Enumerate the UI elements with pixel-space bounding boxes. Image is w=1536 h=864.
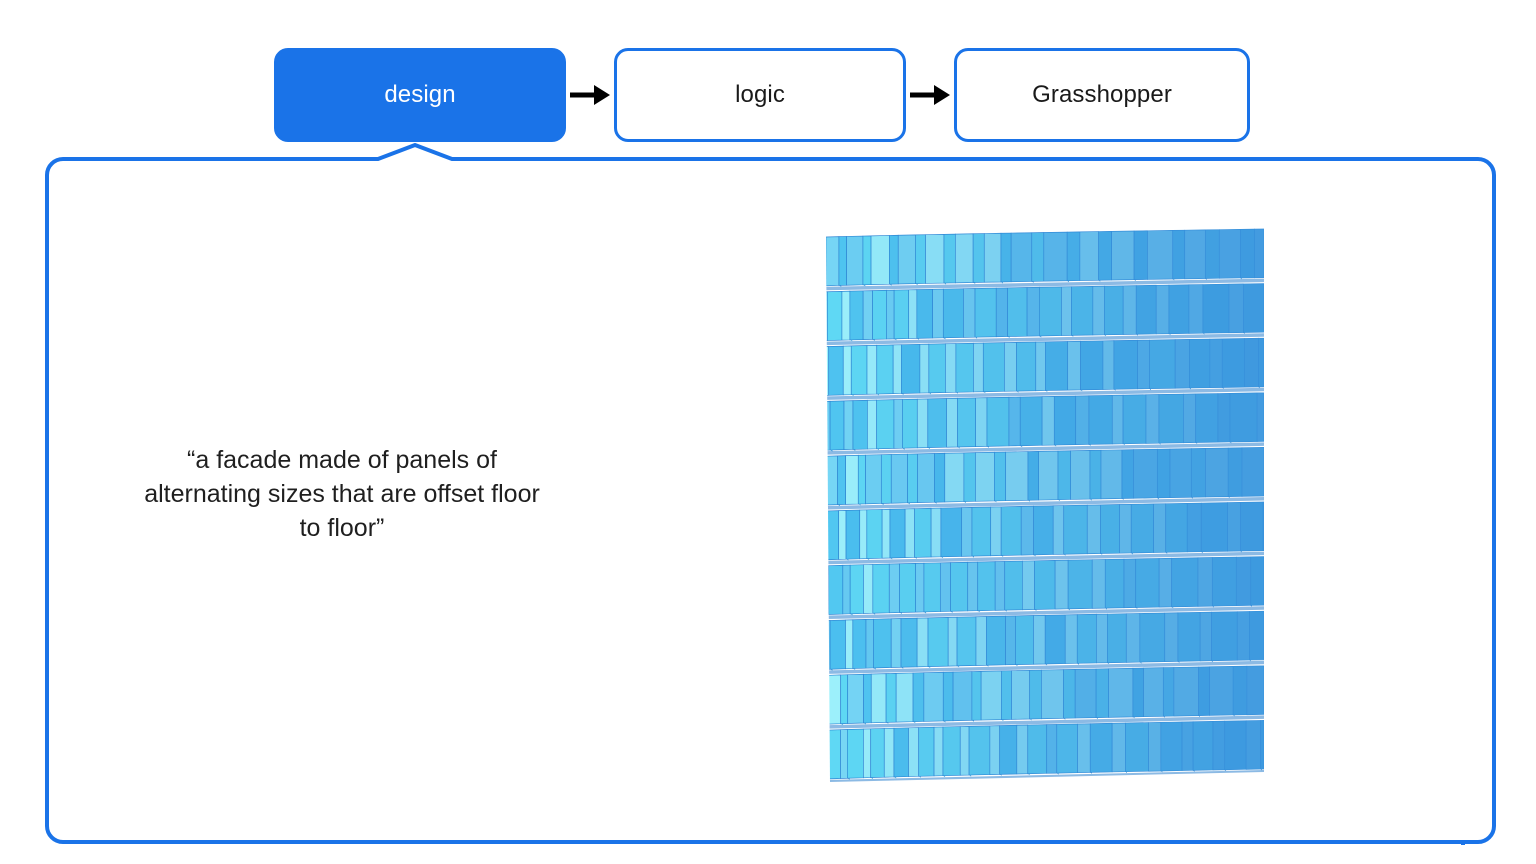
facade-panel <box>843 346 851 395</box>
facade-panel <box>1030 670 1042 719</box>
facade-panel <box>1178 612 1200 661</box>
facade-panel <box>1250 611 1264 660</box>
facade-panel <box>1175 339 1189 388</box>
facade-panel <box>826 401 830 450</box>
facade-panel <box>826 566 829 615</box>
facade-panel <box>1199 667 1210 716</box>
facade-panel <box>1114 340 1138 389</box>
facade-panel <box>1039 451 1058 500</box>
facade-panel <box>1247 666 1264 715</box>
facade-panel <box>1210 339 1222 388</box>
facade-panel <box>893 345 901 394</box>
facade-panel <box>1096 669 1109 718</box>
facade-panel <box>863 291 872 340</box>
facade-panel <box>827 730 840 779</box>
facade-panel <box>1255 229 1264 278</box>
facade-panel <box>1096 614 1107 663</box>
facade-panel <box>909 290 917 339</box>
facade-panel <box>1219 229 1240 278</box>
facade-panel <box>1044 232 1067 281</box>
facade-panel <box>1230 393 1257 442</box>
facade-floor-band <box>826 284 1264 346</box>
facade-panel <box>996 288 1007 337</box>
facade-panel <box>850 565 863 614</box>
facade-panel <box>1174 667 1199 716</box>
facade-panel <box>978 562 995 611</box>
facade-panel <box>1107 614 1126 663</box>
facade-panel <box>1165 613 1178 662</box>
facade-panel <box>1203 284 1229 333</box>
facade-panel <box>891 618 901 667</box>
facade-panel <box>838 456 846 505</box>
facade-panel <box>975 452 994 501</box>
flow-step-design[interactable]: design <box>274 48 566 142</box>
facade-panel <box>844 401 853 450</box>
facade-panel <box>1065 615 1077 664</box>
facade-floor-band <box>826 502 1264 564</box>
facade-panel <box>1033 615 1045 664</box>
facade-panel <box>908 728 918 777</box>
facade-panel <box>1205 230 1219 279</box>
facade-panel <box>1015 616 1033 665</box>
facade-panel <box>860 510 867 559</box>
facade-panel <box>853 400 867 449</box>
facade-panel <box>867 400 876 449</box>
facade-panel <box>1076 396 1089 445</box>
facade-panel <box>1136 558 1159 607</box>
facade-panel <box>947 398 958 447</box>
facade-panel <box>1064 505 1088 554</box>
facade-panel <box>1041 670 1063 719</box>
facade-panel <box>1157 449 1170 498</box>
facade-panel <box>867 345 877 394</box>
facade-panel <box>1032 233 1044 282</box>
facade-panel <box>1213 721 1225 770</box>
facade-panel <box>957 617 976 666</box>
facade-panel <box>829 346 844 395</box>
facade-panel <box>1236 557 1250 606</box>
facade-panel <box>963 288 975 337</box>
facade-panel <box>1017 725 1028 774</box>
facade-panel <box>1246 720 1260 769</box>
facade-panel <box>1233 666 1247 715</box>
facade-panel <box>847 236 863 285</box>
facade-panel <box>1242 447 1264 496</box>
facade-panel <box>1021 506 1033 555</box>
facade-panel <box>953 672 972 721</box>
facade-panel <box>826 511 827 560</box>
facade-panel <box>1229 284 1243 333</box>
facade-panel <box>931 508 941 557</box>
facade-panel <box>1131 504 1153 553</box>
arrow-right-icon-2 <box>906 75 954 115</box>
facade-render <box>812 212 1280 790</box>
facade-panel <box>1189 339 1209 388</box>
facade-floor-band <box>826 666 1265 729</box>
facade-panel <box>962 507 972 556</box>
facade-panel <box>866 619 873 668</box>
facade-panel <box>894 399 902 448</box>
facade-panel <box>1149 722 1161 771</box>
facade-panel <box>1218 393 1230 442</box>
facade-panel <box>871 728 885 777</box>
facade-panel <box>1112 723 1125 772</box>
facade-panel <box>1042 396 1054 445</box>
facade-floor-band <box>826 611 1264 674</box>
facade-panel <box>973 343 983 392</box>
facade-panel <box>1182 722 1193 771</box>
facade-panel <box>1136 285 1156 334</box>
facade-floor-band <box>826 338 1264 400</box>
facade-panel <box>1006 452 1028 501</box>
facade-panel <box>1163 667 1174 716</box>
facade-panel <box>945 453 964 502</box>
facade-panel <box>1063 669 1075 718</box>
design-brief-quote: “a facade made of panels of alternating … <box>92 444 592 545</box>
facade-panel <box>863 564 872 613</box>
flow-step-logic-label: logic <box>735 81 785 109</box>
facade-panel <box>948 617 957 666</box>
facade-panel <box>1170 449 1191 498</box>
facade-panel <box>1159 558 1172 607</box>
facade-panel <box>1198 557 1212 606</box>
facade-floor-band <box>826 229 1265 290</box>
facade-panel <box>1240 502 1263 551</box>
facade-panel <box>1020 397 1042 446</box>
facade-panel <box>1004 342 1016 391</box>
flow-step-design-label: design <box>384 81 455 109</box>
facade-panel <box>891 454 907 503</box>
facade-panel <box>1080 341 1102 390</box>
facade-panel <box>1189 285 1203 334</box>
facade-panel <box>1075 669 1096 718</box>
facade-panel <box>851 346 867 395</box>
facade-panel <box>994 452 1005 501</box>
facade-panel <box>1053 506 1064 555</box>
facade-panel <box>1126 613 1140 662</box>
facade-panel <box>1210 666 1234 715</box>
facade-panel <box>826 347 829 396</box>
facade-panel <box>1243 284 1264 333</box>
facade-panel <box>941 508 962 557</box>
facade-panel <box>850 291 863 340</box>
facade-panel <box>890 509 905 558</box>
facade-panel <box>886 673 896 722</box>
facade-panel <box>889 235 898 284</box>
facade-panel <box>920 344 929 393</box>
facade-panel <box>871 674 886 723</box>
facade-panel <box>943 289 963 338</box>
facade-panel <box>915 508 931 557</box>
facade-panel <box>991 507 1001 556</box>
facade-panel <box>877 400 894 449</box>
facade-panel <box>1257 393 1264 442</box>
facade-panel <box>1173 230 1185 279</box>
facade-panel <box>1166 503 1188 552</box>
facade-panel <box>839 510 846 559</box>
facade-panel <box>1047 724 1057 773</box>
facade-panel <box>841 675 848 724</box>
facade-panel <box>864 674 872 723</box>
facade-panel <box>848 674 864 723</box>
facade-panel <box>901 344 920 393</box>
process-flow: design logic Grasshopper <box>274 48 1250 142</box>
facade-panel <box>830 401 844 450</box>
facade-panel <box>1251 557 1264 606</box>
facade-panel <box>1058 451 1071 500</box>
facade-panel <box>1147 230 1172 279</box>
facade-panel <box>901 618 917 667</box>
facade-panel <box>1005 561 1023 610</box>
facade-panel <box>871 235 889 284</box>
facade-panel <box>951 562 968 611</box>
facade-panel <box>917 399 927 448</box>
facade-panel <box>1101 450 1122 499</box>
facade-panel <box>1149 340 1175 389</box>
facade-panel <box>983 343 1004 392</box>
flow-step-grasshopper-label: Grasshopper <box>1032 81 1172 109</box>
facade-panel <box>958 398 976 447</box>
facade-panel <box>826 620 830 669</box>
facade-panel <box>1089 395 1112 444</box>
facade-panel <box>1090 723 1112 772</box>
facade-panel <box>968 562 978 611</box>
facade-panel <box>840 729 847 778</box>
facade-panel <box>1022 561 1034 610</box>
facade-panel <box>928 617 948 666</box>
facade-panel <box>972 671 981 720</box>
facade-panel <box>928 398 947 447</box>
facade-panel <box>830 620 845 669</box>
facade-panel <box>1045 615 1065 664</box>
facade-panel <box>1035 560 1056 609</box>
facade-panel <box>1008 287 1027 336</box>
facade-panel <box>847 729 863 778</box>
facade-panel <box>1055 560 1068 609</box>
facade-panel <box>1123 395 1146 444</box>
facade-panel <box>1027 287 1039 336</box>
facade-panel <box>1057 724 1078 773</box>
facade-panel <box>1212 612 1238 661</box>
facade-panel <box>934 453 944 502</box>
facade-panel <box>945 344 956 393</box>
flow-step-logic[interactable]: logic <box>614 48 906 142</box>
facade-floor-band <box>826 557 1264 620</box>
facade-panel <box>1133 668 1144 717</box>
facade-panel <box>1090 450 1101 499</box>
facade-panel <box>873 564 889 613</box>
facade-panel <box>863 729 870 778</box>
facade-panel <box>1012 670 1030 719</box>
facade-panel <box>964 453 976 502</box>
facade-panel <box>984 233 1001 282</box>
facade-panel <box>1093 286 1105 335</box>
facade-panel <box>1172 558 1198 607</box>
facade-panel <box>1134 231 1147 280</box>
facade-panel <box>894 728 909 777</box>
facade-panel <box>976 398 987 447</box>
facade-panel <box>1187 503 1201 552</box>
facade-panel-side <box>1264 447 1265 497</box>
facade-panel <box>889 564 899 613</box>
facade-panel <box>1200 612 1211 661</box>
facade-panel <box>1045 341 1067 390</box>
facade-panel <box>846 455 859 504</box>
facade-panel <box>1222 339 1244 388</box>
facade-panel <box>990 726 1000 775</box>
facade-panel <box>986 616 1005 665</box>
facade-panel-side <box>1264 393 1265 443</box>
facade-panel <box>973 234 984 283</box>
facade-panel <box>829 565 843 614</box>
facade-panel <box>1071 286 1092 335</box>
facade-panel <box>882 509 890 558</box>
facade-panel <box>972 507 991 556</box>
facade-panel-side <box>1264 666 1265 716</box>
facade-panel <box>1263 502 1264 551</box>
facade-geometry <box>812 212 1280 790</box>
facade-panel <box>1154 504 1166 553</box>
facade-panel <box>915 235 925 284</box>
facade-panel <box>929 344 946 393</box>
facade-panel <box>943 727 960 776</box>
facade-panel <box>827 511 838 560</box>
facade-panel <box>1228 448 1242 497</box>
facade-panel <box>1087 505 1100 554</box>
facade-panel <box>1156 285 1169 334</box>
facade-panel <box>1146 395 1159 444</box>
facade-panel <box>905 509 915 558</box>
facade-panel <box>858 455 865 504</box>
facade-panel <box>1212 557 1236 606</box>
facade-panel <box>1191 448 1205 497</box>
facade-panel <box>1169 285 1189 334</box>
facade-panel <box>843 565 850 614</box>
facade-panel <box>896 673 913 722</box>
facade-panel <box>1124 559 1136 608</box>
facade-floor-band <box>826 447 1265 509</box>
facade-panel <box>826 237 839 286</box>
facade-panel <box>933 289 944 338</box>
facade-panel <box>1109 668 1133 717</box>
facade-panel <box>924 672 943 721</box>
facade-panel <box>1196 394 1218 443</box>
facade-panel <box>1017 342 1036 391</box>
facade-panel <box>877 345 893 394</box>
facade-panel-side <box>1264 229 1265 279</box>
facade-panel <box>842 291 850 340</box>
facade-panel <box>1009 397 1020 446</box>
facade-panel <box>1054 396 1075 445</box>
facade-panel <box>981 671 1001 720</box>
facade-panel <box>969 726 990 775</box>
facade-panel <box>917 618 928 667</box>
facade-panel <box>1036 342 1046 391</box>
facade-panel <box>845 620 852 669</box>
facade-panel <box>1068 341 1081 390</box>
facade-panel <box>1261 720 1264 769</box>
facade-panel <box>881 454 891 503</box>
facade-panel <box>1001 671 1011 720</box>
facade-panel <box>1193 721 1213 770</box>
facade-panel <box>1105 559 1124 608</box>
facade-panel <box>1259 338 1264 387</box>
facade-panel <box>975 288 996 337</box>
facade-panel <box>976 617 986 666</box>
facade-panel <box>1034 506 1054 555</box>
facade-panel <box>1068 560 1092 609</box>
facade-panel <box>908 454 918 503</box>
facade-panel <box>1245 338 1259 387</box>
facade-panel <box>987 397 1009 446</box>
facade-panel <box>1140 613 1165 662</box>
facade-panel <box>1099 231 1112 280</box>
facade-panel <box>943 672 953 721</box>
facade-panel <box>1077 614 1096 663</box>
facade-panel <box>1240 229 1254 278</box>
facade-panel <box>1125 723 1148 772</box>
facade-panel <box>898 235 915 284</box>
facade-panel <box>960 726 969 775</box>
facade-floor-band <box>826 393 1265 455</box>
facade-panel <box>925 234 943 283</box>
facade-panel <box>1228 502 1241 551</box>
facade-panel <box>944 234 955 283</box>
facade-panel <box>1122 450 1133 499</box>
facade-panel <box>1159 394 1183 443</box>
facade-panel <box>826 675 841 724</box>
facade-panel <box>924 563 940 612</box>
facade-panel <box>1067 232 1080 281</box>
facade-panel <box>863 236 871 285</box>
facade-panel <box>1237 611 1249 660</box>
facade-panel <box>919 727 934 776</box>
facade-floor-band <box>826 720 1264 783</box>
facade-panel <box>886 290 894 339</box>
facade-panel <box>1133 449 1157 498</box>
flow-step-grasshopper[interactable]: Grasshopper <box>954 48 1250 142</box>
facade-panel <box>1080 232 1099 281</box>
facade-panel <box>853 619 866 668</box>
facade-panel <box>934 727 943 776</box>
facade-panel <box>1103 341 1114 390</box>
facade-panel <box>873 619 891 668</box>
facade-panel <box>913 673 924 722</box>
facade-panel <box>917 289 933 338</box>
facade-panel <box>1183 394 1195 443</box>
facade-panel <box>1000 725 1017 774</box>
facade-panel <box>1011 233 1032 282</box>
facade-panel <box>1100 505 1119 554</box>
facade-panel <box>1092 559 1105 608</box>
facade-panel <box>839 236 847 285</box>
facade-panel <box>1071 450 1090 499</box>
arrow-right-icon-1 <box>566 75 614 115</box>
facade-panel <box>940 563 950 612</box>
facade-panel <box>827 291 842 340</box>
facade-panel <box>894 290 909 339</box>
facade-panel <box>1112 395 1123 444</box>
facade-panel <box>916 563 924 612</box>
facade-panel <box>1185 230 1206 279</box>
facade-panel <box>1205 448 1228 497</box>
facade-panel <box>1144 668 1164 717</box>
facade-panel <box>902 399 917 448</box>
facade-panel <box>1028 451 1039 500</box>
facade-panel <box>1161 722 1182 771</box>
facade-panel <box>884 728 894 777</box>
facade-panel <box>826 456 838 505</box>
